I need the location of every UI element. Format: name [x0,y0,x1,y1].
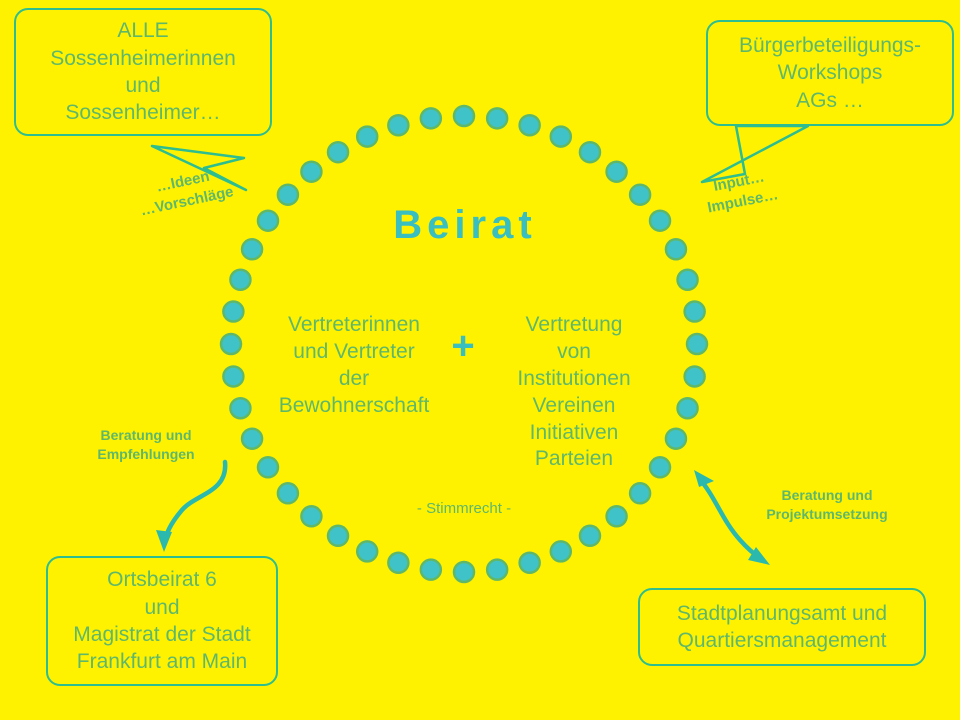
ring-dot [666,429,686,449]
center-right-column: Vertretung von Institutionen Vereinen In… [486,312,662,473]
ring-dot [223,366,243,386]
ring-dot [607,506,627,526]
callout-ortsbeirat-text: Ortsbeirat 6 und Magistrat der Stadt Fra… [48,566,276,675]
callout-ortsbeirat-magistrat[interactable]: Ortsbeirat 6 und Magistrat der Stadt Fra… [46,556,278,686]
ring-dot [230,270,250,290]
ring-dot [551,127,571,147]
ring-dot [454,562,474,582]
ring-dot [520,553,540,573]
ring-dot [328,142,348,162]
ring-dot [650,211,670,231]
ring-dot [607,162,627,182]
ring-dot [258,211,278,231]
note-beratung-empfehlungen: Beratung und Empfehlungen [74,426,218,464]
ring-dot [487,108,507,128]
ring-dot [421,108,441,128]
ring-dot [678,270,698,290]
ring-dot [357,541,377,561]
callout-stadtplanung-text: Stadtplanungsamt und Quartiersmanagement [640,600,924,655]
ring-dot [230,398,250,418]
callout-stadtplanungsamt[interactable]: Stadtplanungsamt und Quartiersmanagement [638,588,926,666]
ring-dot [242,239,262,259]
note-input-impulse: Input… Impulse… [683,162,799,223]
callout-alle-sossenheimer[interactable]: ALLE Sossenheimerinnen und Sossenheimer… [14,8,272,136]
ring-dot [678,398,698,418]
curved-arrow-down-left-icon [156,462,225,552]
callout-workshops-text: Bürgerbeteiligungs- Workshops AGs … [708,32,952,114]
ring-dot [551,541,571,561]
stimmrecht-note: - Stimmrecht - [364,500,564,517]
ring-dot [630,483,650,503]
ring-dot [487,560,507,580]
ring-dot [687,334,707,354]
ring-dot [221,334,241,354]
ring-dot [454,106,474,126]
ring-dot [630,185,650,205]
ring-dot [580,142,600,162]
ring-dot [223,302,243,322]
ring-dot [301,506,321,526]
ring-dot [357,127,377,147]
ring-dot [328,526,348,546]
ring-dot [421,560,441,580]
plus-icon: + [446,331,480,365]
ring-dot [278,483,298,503]
ring-dot [388,553,408,573]
ring-dot [388,115,408,135]
callout-alle-text: ALLE Sossenheimerinnen und Sossenheimer… [16,17,270,126]
ring-dot [242,429,262,449]
center-left-column: Vertreterinnen und Vertreter der Bewohne… [266,312,442,420]
page-title-beirat: Beirat [300,203,630,248]
note-beratung-projektumsetzung: Beratung und Projektumsetzung [742,486,912,524]
ring-dot [258,457,278,477]
note-ideen-vorschlaege: …Ideen …Vorschläge [117,159,253,226]
ring-dot [685,302,705,322]
ring-dot [520,115,540,135]
ring-dot [301,162,321,182]
ring-dot [580,526,600,546]
diagram-canvas: ALLE Sossenheimerinnen und Sossenheimer…… [0,0,960,720]
ring-dot [666,239,686,259]
ring-dot [685,366,705,386]
callout-buergerbeteiligung[interactable]: Bürgerbeteiligungs- Workshops AGs … [706,20,954,126]
ring-dot [278,185,298,205]
